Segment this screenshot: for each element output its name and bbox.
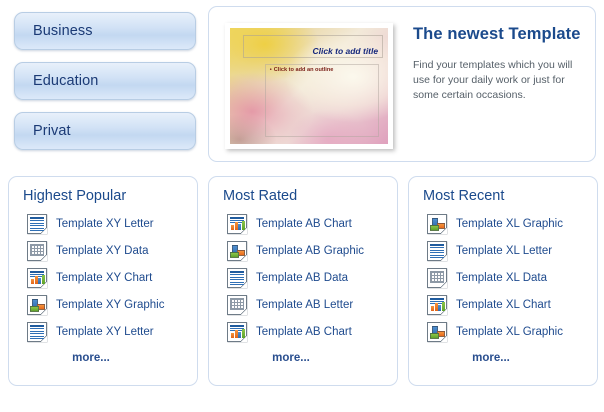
letter-rule-line: [430, 247, 444, 248]
letter-rule-line: [30, 230, 44, 231]
slide-outline-label: Click to add an outline: [274, 67, 334, 73]
letter-rule-line: [230, 284, 244, 285]
more-link[interactable]: more...: [209, 352, 373, 364]
top-section: BusinessEducationPrivat Click to add tit…: [0, 0, 604, 172]
letter-icon: [227, 268, 247, 288]
graphic-shape: [430, 333, 439, 339]
template-name: Template AB Graphic: [256, 245, 364, 257]
letter-rule-line: [30, 336, 44, 337]
template-name: Template AB Letter: [256, 299, 353, 311]
panel-title: Most Recent: [423, 188, 597, 204]
most-recent-panel: Most RecentTemplate XL GraphicTemplate X…: [408, 176, 598, 386]
letter-rule-line: [30, 331, 44, 332]
category-button-label: Education: [15, 73, 98, 89]
icon-inner: [429, 243, 445, 259]
featured-template-panel: Click to add title •Click to add an outl…: [208, 6, 596, 162]
template-name: Template AB Chart: [256, 218, 352, 230]
table-grid: [30, 244, 44, 256]
table-grid: [430, 271, 444, 283]
letter-rule-line: [30, 217, 44, 219]
letter-rule-line: [230, 277, 244, 278]
letter-rule-line: [230, 271, 244, 273]
chart-icon: [27, 268, 47, 288]
letter-icon: [27, 214, 47, 234]
list-item[interactable]: Template XL Letter: [427, 237, 597, 264]
more-link[interactable]: more...: [409, 352, 573, 364]
chart-bar: [42, 275, 45, 284]
chart-icon: [227, 214, 247, 234]
letter-rule-line: [230, 279, 244, 280]
letter-rule-line: [230, 282, 244, 283]
letter-rule-line: [430, 252, 444, 253]
letter-rule-line: [230, 274, 244, 275]
template-name: Template AB Chart: [256, 326, 352, 338]
icon-inner: [29, 216, 45, 232]
data-icon: [427, 268, 447, 288]
list-item[interactable]: Template AB Chart: [227, 210, 397, 237]
template-name: Template XY Letter: [56, 326, 154, 338]
icon-inner: [229, 216, 245, 232]
chart-bar: [242, 221, 245, 230]
letter-icon: [427, 241, 447, 261]
template-name: Template XY Data: [56, 245, 148, 257]
list-item[interactable]: Template XY Chart: [27, 264, 197, 291]
letter-rule-line: [30, 328, 44, 329]
graphic-shape: [30, 306, 39, 312]
panel-title: Most Rated: [223, 188, 397, 204]
graphic-shape: [430, 225, 439, 231]
featured-description: Find your templates which you will use f…: [413, 58, 581, 104]
more-link[interactable]: more...: [9, 352, 173, 364]
most-rated-panel: Most RatedTemplate AB ChartTemplate AB G…: [208, 176, 398, 386]
list-item[interactable]: Template XL Graphic: [427, 318, 597, 345]
list-item[interactable]: Template XL Chart: [427, 291, 597, 318]
list-item[interactable]: Template XY Letter: [27, 210, 197, 237]
chart-icon: [227, 322, 247, 342]
graphic-shape: [230, 252, 239, 258]
list-item[interactable]: Template AB Chart: [227, 318, 397, 345]
category-button-privat[interactable]: Privat: [14, 112, 196, 150]
letter-rule-line: [30, 325, 44, 327]
template-name: Template XL Graphic: [456, 218, 563, 230]
list-item[interactable]: Template XY Graphic: [27, 291, 197, 318]
icon-inner: [29, 270, 45, 286]
category-button-business[interactable]: Business: [14, 12, 196, 50]
template-list: Template XY LetterTemplate XY DataTempla…: [9, 210, 197, 345]
highest-popular-panel: Highest PopularTemplate XY LetterTemplat…: [8, 176, 198, 386]
icon-inner: [229, 324, 245, 340]
slide-outline-placeholder-box: •Click to add an outline: [265, 64, 379, 137]
icon-inner: [29, 243, 45, 259]
icon-inner: [429, 297, 445, 313]
table-grid: [230, 298, 244, 310]
list-item[interactable]: Template XY Data: [27, 237, 197, 264]
list-item[interactable]: Template AB Graphic: [227, 237, 397, 264]
category-button-label: Privat: [15, 123, 71, 139]
slide-outline-placeholder-text: •Click to add an outline: [270, 67, 334, 73]
letter-rule-line: [430, 257, 444, 258]
data-icon: [27, 241, 47, 261]
template-name: Template XL Data: [456, 272, 547, 284]
template-name: Template XL Chart: [456, 299, 551, 311]
template-name: Template XY Chart: [56, 272, 152, 284]
icon-inner: [229, 270, 245, 286]
letter-rule-line: [30, 225, 44, 226]
list-item[interactable]: Template AB Letter: [227, 291, 397, 318]
category-button-education[interactable]: Education: [14, 62, 196, 100]
letter-rule-line: [30, 333, 44, 334]
bullet-icon: •: [270, 67, 272, 73]
featured-title: The newest Template: [413, 25, 581, 44]
template-name: Template AB Data: [256, 272, 348, 284]
template-gallery-page: BusinessEducationPrivat Click to add tit…: [0, 0, 604, 412]
letter-rule-line: [430, 250, 444, 251]
graphic-icon: [427, 322, 447, 342]
list-item[interactable]: Template XY Letter: [27, 318, 197, 345]
graphic-icon: [227, 241, 247, 261]
chart-bar: [242, 329, 245, 338]
list-item[interactable]: Template AB Data: [227, 264, 397, 291]
featured-text-block: The newest Template Find your templates …: [413, 25, 581, 104]
letter-rule-line: [30, 228, 44, 229]
slide-title-placeholder-text: Click to add title: [312, 46, 378, 56]
letter-icon: [27, 322, 47, 342]
letter-rule-line: [430, 244, 444, 246]
icon-inner: [229, 243, 245, 259]
letter-rule-line: [30, 338, 44, 339]
letter-rule-line: [430, 255, 444, 256]
bottom-section: Highest PopularTemplate XY LetterTemplat…: [0, 176, 604, 412]
chart-icon: [427, 295, 447, 315]
template-list: Template AB ChartTemplate AB GraphicTemp…: [209, 210, 397, 345]
icon-inner: [429, 216, 445, 232]
icon-inner: [29, 324, 45, 340]
slide-title-placeholder-box: Click to add title: [243, 35, 384, 58]
icon-inner: [429, 324, 445, 340]
list-item[interactable]: Template XL Data: [427, 264, 597, 291]
chart-bar: [442, 302, 445, 311]
panel-title: Highest Popular: [23, 188, 197, 204]
graphic-icon: [427, 214, 447, 234]
template-list: Template XL GraphicTemplate XL LetterTem…: [409, 210, 597, 345]
data-icon: [227, 295, 247, 315]
template-name: Template XY Graphic: [56, 299, 164, 311]
template-name: Template XL Letter: [456, 245, 552, 257]
slide-preview: Click to add title •Click to add an outl…: [230, 28, 388, 144]
graphic-icon: [27, 295, 47, 315]
icon-inner: [229, 297, 245, 313]
category-button-list: BusinessEducationPrivat: [14, 12, 196, 162]
template-name: Template XL Graphic: [456, 326, 563, 338]
icon-inner: [29, 297, 45, 313]
featured-template-thumbnail[interactable]: Click to add title •Click to add an outl…: [225, 23, 393, 149]
letter-rule-line: [30, 223, 44, 224]
icon-inner: [429, 270, 445, 286]
letter-rule-line: [30, 220, 44, 221]
category-button-label: Business: [15, 23, 93, 39]
list-item[interactable]: Template XL Graphic: [427, 210, 597, 237]
template-name: Template XY Letter: [56, 218, 154, 230]
